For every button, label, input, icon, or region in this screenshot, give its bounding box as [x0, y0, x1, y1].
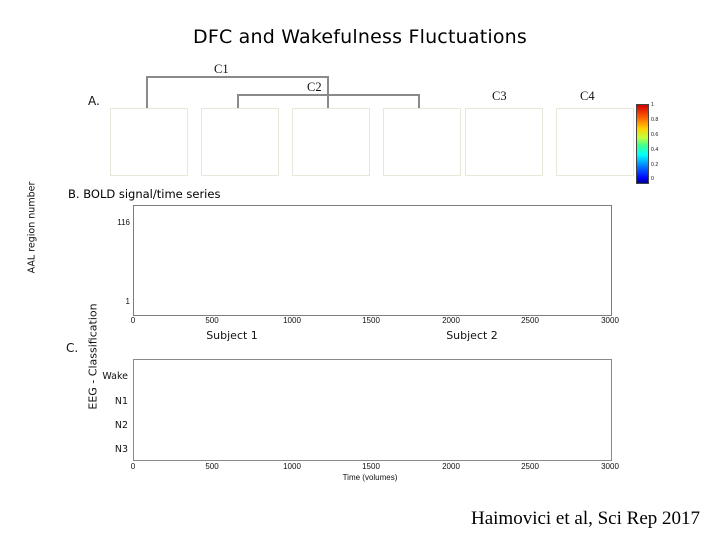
- panel-b-ylabel: AAL region number: [27, 168, 38, 288]
- bold-timeseries-plot: [133, 205, 612, 316]
- panel-a-letter: A.: [88, 94, 100, 108]
- bracket-c1-right-stem: [327, 76, 329, 108]
- correlation-matrix-4: [383, 108, 461, 176]
- panel-c-ytick-n3: N3: [88, 444, 128, 455]
- panel-c-ytick-n1: N1: [88, 396, 128, 407]
- bracket-c2-right-stem: [418, 94, 420, 108]
- panel-c-letter: C.: [66, 341, 78, 355]
- colorbar-tick-02: 0.2: [651, 163, 658, 168]
- colorbar-tick-06: 0.6: [651, 133, 658, 138]
- panel-b-xtick-2000: 2000: [431, 316, 471, 325]
- correlation-matrix-2: [201, 108, 279, 176]
- panel-b-xtick-1500: 1500: [351, 316, 391, 325]
- subject-1-label: Subject 1: [172, 329, 292, 342]
- panel-b-xtick-3000: 3000: [590, 316, 630, 325]
- panel-c-xtick-2500: 2500: [510, 462, 550, 471]
- panel-b-xtick-1000: 1000: [272, 316, 312, 325]
- panel-b-caption: B. BOLD signal/time series: [68, 187, 220, 201]
- bracket-label-c3: C3: [492, 89, 507, 104]
- panel-b-xtick-2500: 2500: [510, 316, 550, 325]
- colorbar-tick-1: 1: [651, 103, 654, 108]
- panel-c-xtick-500: 500: [192, 462, 232, 471]
- panel-b-ytick-1: 1: [104, 297, 130, 306]
- bracket-c2-horizontal: [237, 94, 419, 96]
- eeg-hypnogram-plot: [133, 359, 612, 461]
- panel-b-xtick-500: 500: [192, 316, 232, 325]
- correlation-matrix-5: [465, 108, 543, 176]
- bracket-label-c4: C4: [580, 89, 595, 104]
- panel-c-xtick-0: 0: [113, 462, 153, 471]
- panel-b-ytick-116: 116: [104, 218, 130, 227]
- panel-c-xtick-1500: 1500: [351, 462, 391, 471]
- bracket-label-c1: C1: [214, 62, 229, 77]
- panel-c-ytick-n2: N2: [88, 420, 128, 431]
- panel-c-xtick-1000: 1000: [272, 462, 312, 471]
- colorbar: [636, 104, 649, 184]
- bracket-c1-left-stem: [146, 76, 148, 108]
- bracket-c2-left-stem: [237, 94, 239, 108]
- page-title: DFC and Wakefulness Fluctuations: [0, 26, 720, 48]
- panel-b-xtick-0: 0: [113, 316, 153, 325]
- panel-c-xtick-3000: 3000: [590, 462, 630, 471]
- panel-c-xlabel: Time (volumes): [300, 473, 440, 482]
- correlation-matrix-6: [556, 108, 634, 176]
- colorbar-tick-08: 0.8: [651, 118, 658, 123]
- correlation-matrix-3: [292, 108, 370, 176]
- bracket-label-c2: C2: [307, 80, 322, 95]
- citation-text: Haimovici et al, Sci Rep 2017: [0, 508, 700, 530]
- subject-2-label: Subject 2: [412, 329, 532, 342]
- panel-c-xtick-2000: 2000: [431, 462, 471, 471]
- correlation-matrix-1: [110, 108, 188, 176]
- colorbar-tick-0: 0: [651, 177, 654, 182]
- panel-c-ytick-wake: Wake: [88, 371, 128, 382]
- colorbar-tick-04: 0.4: [651, 148, 658, 153]
- bracket-c1-horizontal: [146, 76, 328, 78]
